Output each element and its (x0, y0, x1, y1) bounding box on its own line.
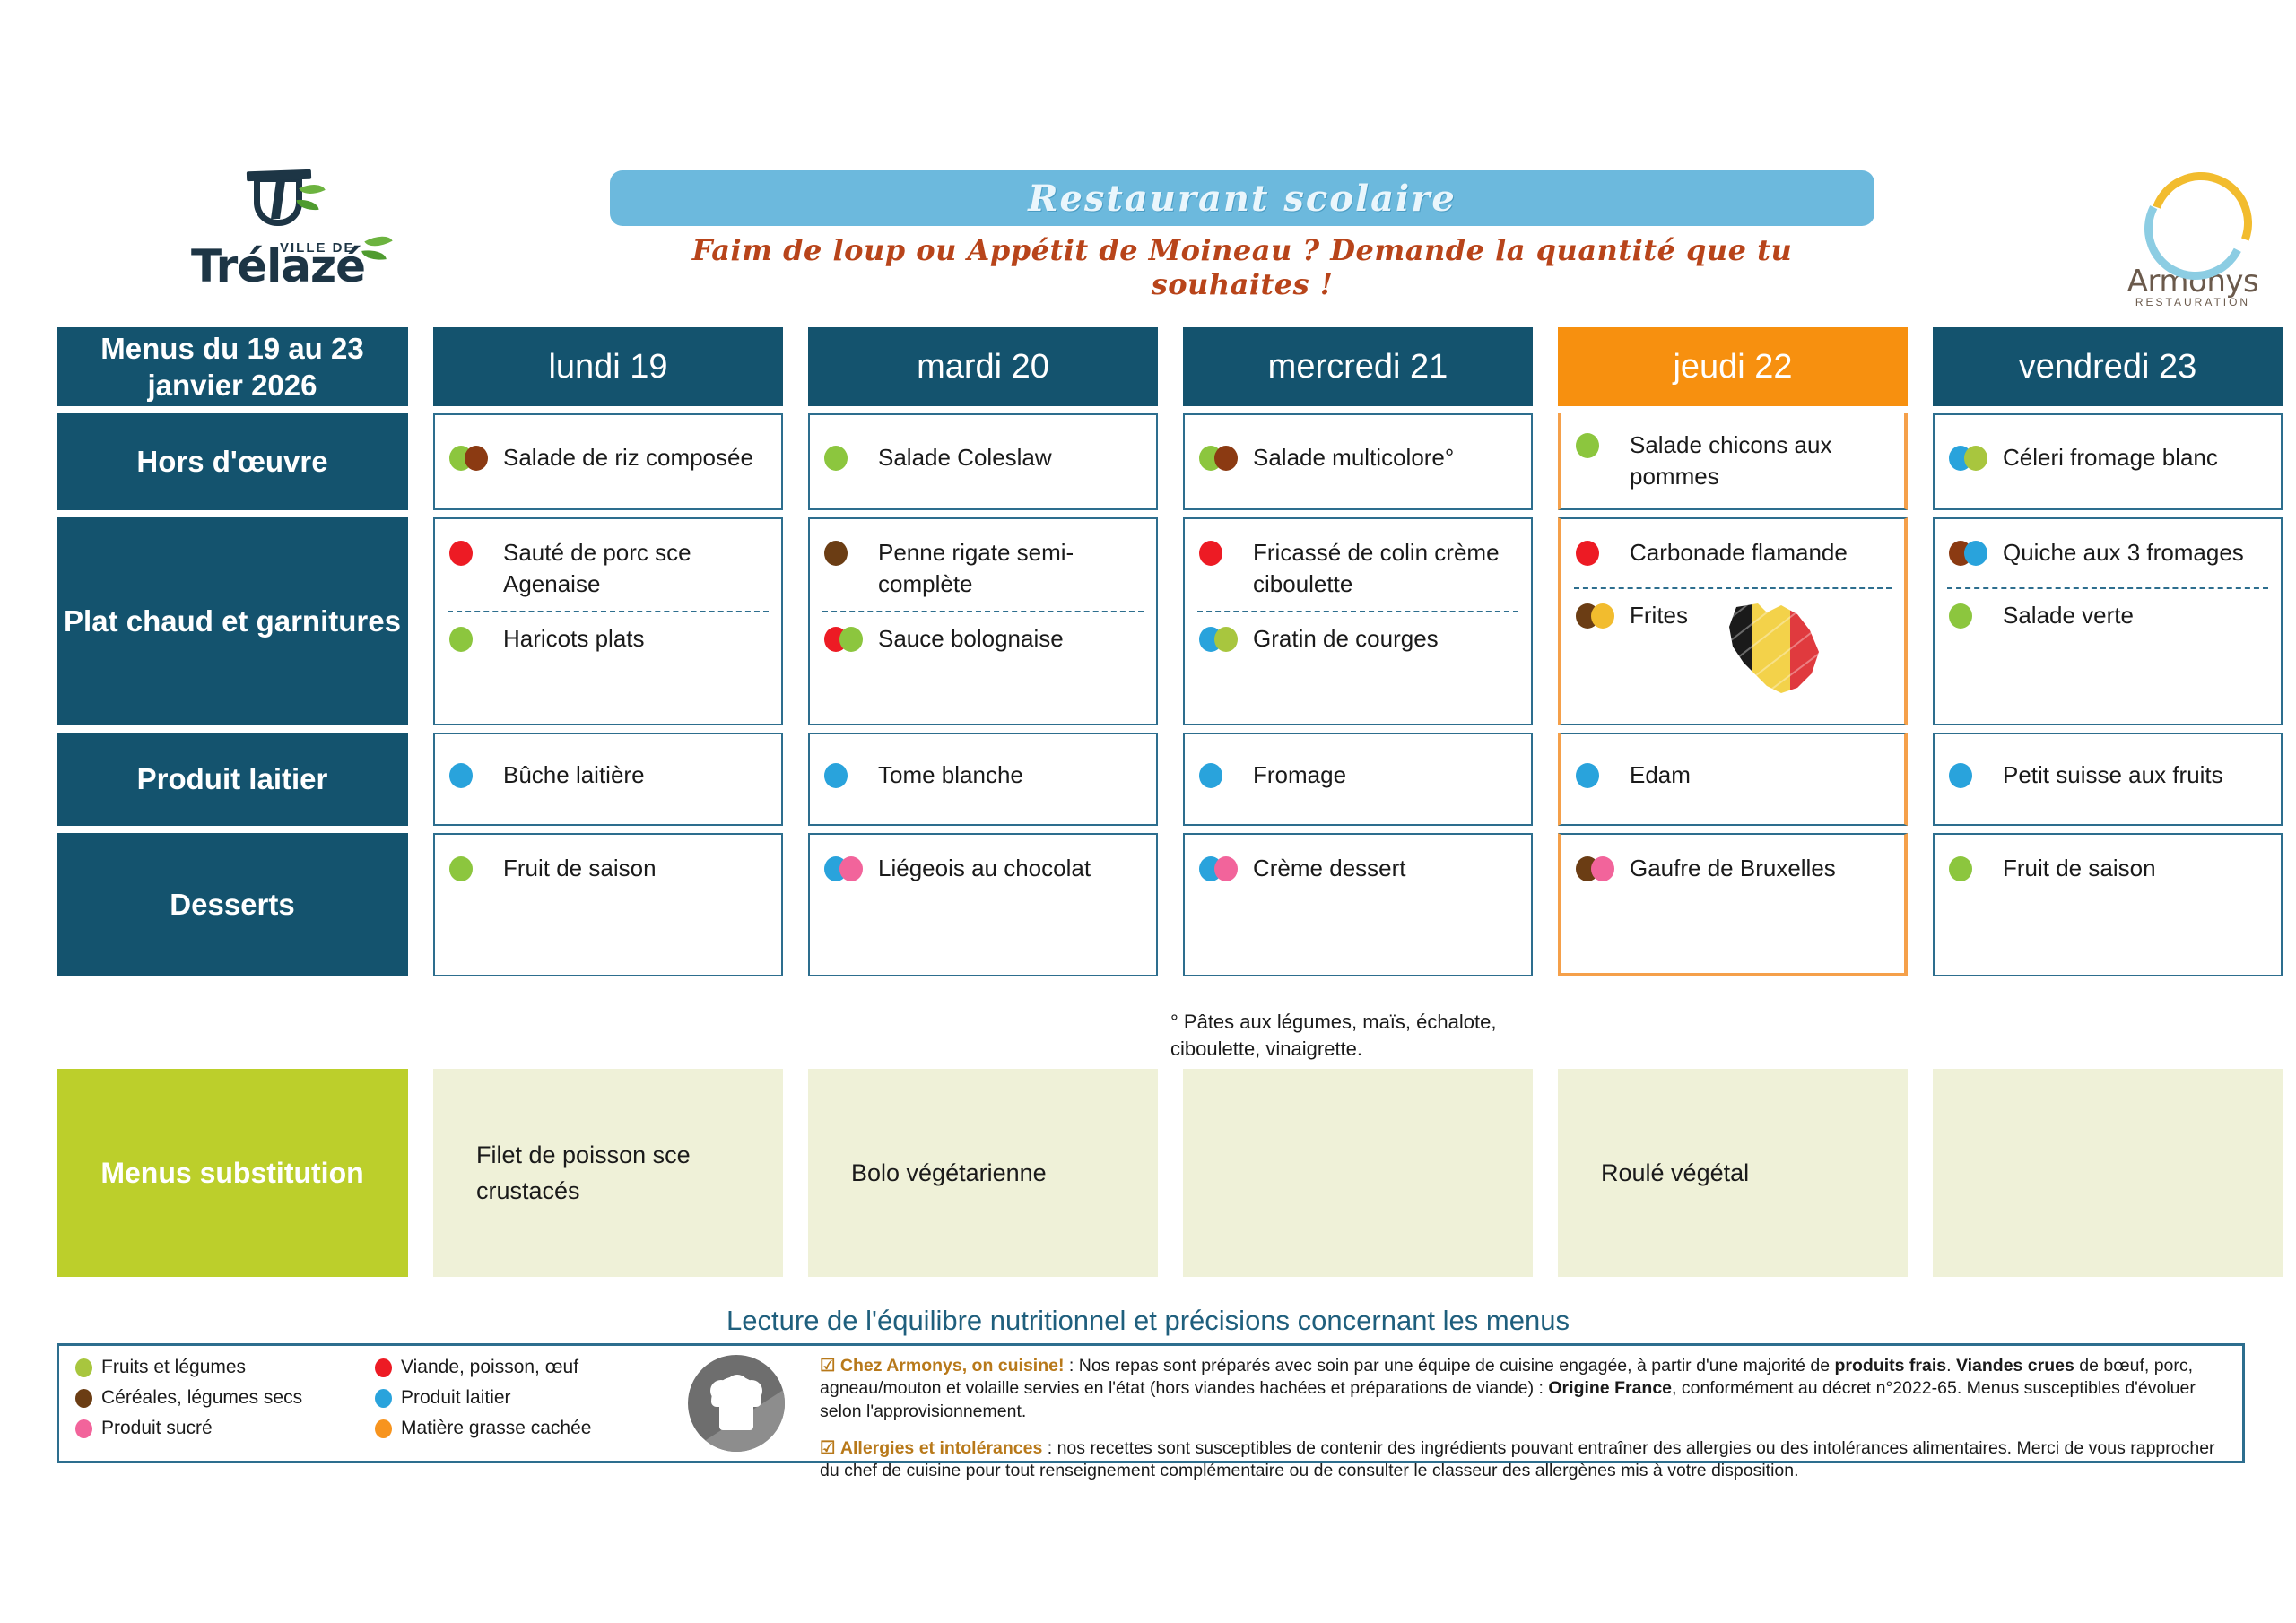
note-armonys-bold-3: Origine France (1548, 1378, 1672, 1398)
category-dots (449, 853, 491, 881)
category-dots (449, 442, 491, 471)
menu-item: Salade multicolore° (1196, 437, 1457, 487)
restaurant-banner: Restaurant scolaire (610, 170, 1874, 226)
banner-subtitle: Faim de loup ou Appétit de Moineau ? Dem… (610, 233, 1874, 301)
legend-item: Fruits et légumes (75, 1357, 362, 1378)
banner-title: Restaurant scolaire (1028, 178, 1457, 220)
note-armonys-body-a: : Nos repas sont préparés avec soin par … (1064, 1356, 1834, 1376)
menu-item: Céleri fromage blanc (1945, 437, 2222, 487)
menu-item-label: Bûche laitière (503, 759, 645, 791)
category-dots (1576, 600, 1617, 629)
laitier-mercredi: Fromage (1183, 733, 1533, 826)
menu-item-label: Salade verte (2003, 600, 2134, 631)
legend-label: Viande, poisson, œuf (401, 1357, 578, 1378)
chef-hat-icon (688, 1355, 785, 1452)
menu-item: Liégeois au chocolat (821, 847, 1145, 898)
trelaze-city-logo: Trélazé VILLE DE (143, 170, 413, 305)
category-dots (449, 537, 491, 566)
legend-item: Produit laitier (375, 1387, 591, 1409)
note-armonys-bold-1: produits frais (1835, 1356, 1947, 1376)
legend-dot-viande (375, 1358, 392, 1377)
substitution-label: Filet de poisson sce crustacés (476, 1137, 740, 1210)
plat-chaud-mercredi: Fricassé de colin crème ciboulette Grati… (1183, 517, 1533, 725)
substitution-label: Bolo végétarienne (851, 1155, 1047, 1192)
category-dots (1576, 759, 1617, 788)
category-dots (449, 623, 491, 652)
plat-divider (822, 611, 1144, 612)
menu-footnote: ° Pâtes aux légumes, maïs, échalote, cib… (1170, 1009, 1529, 1062)
menu-page: Trélazé VILLE DE Restaurant scolaire Fai… (0, 0, 2296, 1623)
plat-divider (448, 611, 769, 612)
row-label-menus-substitution: Menus substitution (57, 1069, 408, 1277)
category-dots (824, 759, 865, 788)
menu-item-label: Salade de riz composée (503, 442, 753, 473)
legend-column-left: Fruits et légumes Céréales, légumes secs… (75, 1357, 362, 1454)
category-dots (1576, 537, 1617, 566)
menu-item: Gratin de courges (1196, 618, 1520, 668)
legend-label: Produit sucré (101, 1418, 213, 1439)
day-column-0: lundi 19 (433, 327, 783, 406)
dessert-lundi: Fruit de saison (433, 833, 783, 976)
laitier-jeudi: Edam (1558, 733, 1908, 826)
category-dots (1199, 853, 1240, 881)
day-header-mardi: mardi 20 (808, 327, 1158, 406)
menu-item: Salade de riz composée (446, 437, 757, 487)
hors-doeuvre-vendredi: Céleri fromage blanc (1933, 413, 2283, 510)
hors-doeuvre-jeudi: Salade chicons aux pommes (1558, 413, 1908, 510)
category-dots (1949, 600, 1990, 629)
category-dots (1199, 537, 1240, 566)
menu-item-label: Edam (1630, 759, 1691, 791)
legend-label: Matière grasse cachée (401, 1418, 591, 1439)
menu-item-label: Crème dessert (1253, 853, 1406, 884)
menu-item: Bûche laitière (446, 754, 648, 804)
note-allergies: ☑ Allergies et intolérances : nos recett… (820, 1437, 2230, 1483)
dessert-mardi: Liégeois au chocolat (808, 833, 1158, 976)
category-dots (1949, 853, 1990, 881)
row-produit-laitier: Produit laitier Bûche laitière Tome blan… (57, 733, 2245, 826)
hors-doeuvre-lundi: Salade de riz composée (433, 413, 783, 510)
nutrition-notes: ☑ Chez Armonys, on cuisine! : Nos repas … (804, 1346, 2242, 1461)
menu-item: Tome blanche (821, 754, 1027, 804)
category-dots (1199, 623, 1240, 652)
menu-item: Salade verte (1945, 595, 2270, 645)
row-desserts: Desserts Fruit de saison Liégeois au ch (57, 833, 2245, 976)
day-header-mercredi: mercredi 21 (1183, 327, 1533, 406)
day-header-row: Menus du 19 au 23 janvier 2026 lundi 19 … (57, 327, 2245, 406)
category-dots (824, 853, 865, 881)
menu-item: Salade Coleslaw (821, 437, 1056, 487)
category-dots (1949, 759, 1990, 788)
legend-dot-matiere-grasse (375, 1419, 392, 1438)
day-column-1: mardi 20 (808, 327, 1158, 406)
menu-item: Salade chicons aux pommes (1572, 424, 1893, 498)
day-header-jeudi: jeudi 22 (1558, 327, 1908, 406)
row-label-desserts: Desserts (57, 833, 408, 976)
dessert-vendredi: Fruit de saison (1933, 833, 2283, 976)
nutrition-section-title: Lecture de l'équilibre nutritionnel et p… (0, 1305, 2296, 1337)
substitution-label: Roulé végétal (1601, 1155, 1749, 1192)
menu-item-label: Fruit de saison (503, 853, 657, 884)
category-dots (824, 537, 865, 566)
legend-dot-fruits-legumes (75, 1358, 92, 1377)
legend-item: Produit sucré (75, 1418, 362, 1439)
checkbox-icon: ☑ (820, 1438, 835, 1458)
legend-label: Fruits et légumes (101, 1357, 246, 1378)
legend-dot-cereales (75, 1389, 92, 1408)
menu-item-label: Salade multicolore° (1253, 442, 1454, 473)
armonys-logo: Armonys RESTAURATION (2108, 170, 2278, 314)
belgium-flag-map-icon (1711, 600, 1830, 699)
substitution-mercredi (1183, 1069, 1533, 1277)
day-header-lundi: lundi 19 (433, 327, 783, 406)
day-column-3: jeudi 22 (1558, 327, 1908, 406)
note-allergies-heading: Allergies et intolérances (840, 1438, 1042, 1458)
menu-item-label: Gratin de courges (1253, 623, 1439, 655)
category-dots (1199, 759, 1240, 788)
row-label-produit-laitier: Produit laitier (57, 733, 408, 826)
dessert-mercredi: Crème dessert (1183, 833, 1533, 976)
menu-item-label: Frites (1630, 600, 1688, 631)
menu-item-label: Gaufre de Bruxelles (1630, 853, 1836, 884)
note-armonys-bold-2: Viandes crues (1956, 1356, 2074, 1376)
chef-hat-badge (669, 1346, 804, 1461)
hors-doeuvre-mardi: Salade Coleslaw (808, 413, 1158, 510)
row-label-hors-doeuvre: Hors d'œuvre (57, 413, 408, 510)
legend-label: Produit laitier (401, 1387, 511, 1409)
legend-item: Céréales, légumes secs (75, 1387, 362, 1409)
plat-chaud-mardi: Penne rigate semi-complète Sauce bologna… (808, 517, 1158, 725)
menu-item-label: Carbonade flamande (1630, 537, 1848, 568)
menu-item: Edam (1572, 754, 1694, 804)
title-block: Restaurant scolaire Faim de loup ou Appé… (610, 170, 1874, 301)
menu-item-label: Quiche aux 3 fromages (2003, 537, 2244, 568)
menu-item-label: Salade Coleslaw (878, 442, 1052, 473)
laitier-vendredi: Petit suisse aux fruits (1933, 733, 2283, 826)
menu-item: Quiche aux 3 fromages (1945, 532, 2270, 582)
menu-item-label: Fruit de saison (2003, 853, 2156, 884)
day-column-4: vendredi 23 (1933, 327, 2283, 406)
legend-label: Céréales, légumes secs (101, 1387, 302, 1409)
menu-grid: Menus du 19 au 23 janvier 2026 lundi 19 … (57, 327, 2245, 984)
plat-chaud-jeudi: Carbonade flamande Frites (1558, 517, 1908, 725)
menu-item: Sauté de porc sce Agenaise (446, 532, 770, 605)
menu-item: Fruit de saison (446, 847, 770, 898)
menu-item-label: Salade chicons aux pommes (1630, 430, 1890, 492)
menu-item: Carbonade flamande (1572, 532, 1893, 582)
checkbox-icon: ☑ (820, 1356, 835, 1376)
trelaze-kicker: VILLE DE (280, 240, 355, 256)
hors-doeuvre-mercredi: Salade multicolore° (1183, 413, 1533, 510)
category-dots (1949, 537, 1990, 566)
menu-item-label: Sauce bolognaise (878, 623, 1064, 655)
legend-dot-produit-laitier (375, 1389, 392, 1408)
plat-divider (1197, 611, 1518, 612)
menu-item-label: Fromage (1253, 759, 1346, 791)
menu-item: Crème dessert (1196, 847, 1520, 898)
menu-item: Fromage (1196, 754, 1350, 804)
trelaze-shield-icon (229, 170, 327, 242)
legend: Fruits et légumes Céréales, légumes secs… (59, 1346, 669, 1461)
menu-item: Fricassé de colin crème ciboulette (1196, 532, 1520, 605)
menu-item-label: Fricassé de colin crème ciboulette (1253, 537, 1517, 600)
menu-item: Fruit de saison (1945, 847, 2270, 898)
category-dots (1576, 853, 1617, 881)
menu-item: Penne rigate semi-complète (821, 532, 1145, 605)
menu-item: Sauce bolognaise (821, 618, 1145, 668)
menu-item-label: Penne rigate semi-complète (878, 537, 1142, 600)
menu-item-label: Sauté de porc sce Agenaise (503, 537, 767, 600)
page-header: Trélazé VILLE DE Restaurant scolaire Fai… (54, 170, 2251, 323)
row-plat-chaud: Plat chaud et garnitures Sauté de porc s… (57, 517, 2245, 725)
day-column-2: mercredi 21 (1183, 327, 1533, 406)
day-header-vendredi: vendredi 23 (1933, 327, 2283, 406)
category-dots (1576, 430, 1617, 458)
note-armonys-heading: Chez Armonys, on cuisine! (840, 1356, 1065, 1376)
laitier-lundi: Bûche laitière (433, 733, 783, 826)
note-armonys: ☑ Chez Armonys, on cuisine! : Nos repas … (820, 1355, 2230, 1423)
week-label: Menus du 19 au 23 janvier 2026 (57, 327, 408, 406)
plat-chaud-vendredi: Quiche aux 3 fromages Salade verte (1933, 517, 2283, 725)
menu-item-label: Céleri fromage blanc (2003, 442, 2218, 473)
menu-item: Gaufre de Bruxelles (1572, 847, 1893, 898)
menu-item: Haricots plats (446, 618, 770, 668)
legend-dot-produit-sucre (75, 1419, 92, 1438)
legend-item: Viande, poisson, œuf (375, 1357, 591, 1378)
category-dots (1199, 442, 1240, 471)
dessert-jeudi: Gaufre de Bruxelles (1558, 833, 1908, 976)
menu-item-label: Tome blanche (878, 759, 1023, 791)
row-hors-doeuvre: Hors d'œuvre Salade de riz composée (57, 413, 2245, 510)
menu-item-label: Liégeois au chocolat (878, 853, 1091, 884)
note-armonys-body-b: . (1946, 1356, 1956, 1376)
armonys-ring-icon (2144, 170, 2241, 267)
category-dots (449, 759, 491, 788)
menu-item: Frites (1572, 595, 1893, 704)
plat-divider (1574, 587, 1892, 589)
plat-chaud-lundi: Sauté de porc sce Agenaise Haricots plat… (433, 517, 783, 725)
substitution-vendredi (1933, 1069, 2283, 1277)
legend-item: Matière grasse cachée (375, 1418, 591, 1439)
nutrition-legend-box: Fruits et légumes Céréales, légumes secs… (57, 1343, 2245, 1463)
plat-divider (1947, 587, 2268, 589)
substitution-mardi: Bolo végétarienne (808, 1069, 1158, 1277)
row-menus-substitution: Menus substitution Filet de poisson sce … (57, 1069, 2283, 1277)
menu-item-label: Haricots plats (503, 623, 645, 655)
category-dots (1949, 442, 1990, 471)
menu-item: Petit suisse aux fruits (1945, 754, 2227, 804)
category-dots (824, 623, 865, 652)
menu-item-label: Petit suisse aux fruits (2003, 759, 2223, 791)
row-label-plat-chaud: Plat chaud et garnitures (57, 517, 408, 725)
category-dots (824, 442, 865, 471)
laitier-mardi: Tome blanche (808, 733, 1158, 826)
substitution-jeudi: Roulé végétal (1558, 1069, 1908, 1277)
legend-column-right: Viande, poisson, œuf Produit laitier Mat… (375, 1357, 591, 1454)
substitution-lundi: Filet de poisson sce crustacés (433, 1069, 783, 1277)
